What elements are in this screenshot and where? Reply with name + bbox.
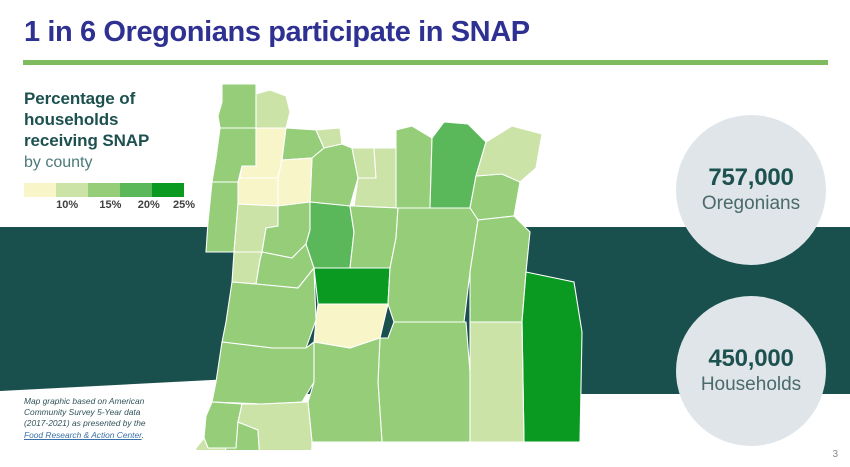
footnote-line-3: (2017-2021) as presented by the: [24, 418, 146, 428]
footnote-line-2: Community Survey 5-Year data: [24, 407, 140, 417]
legend-tick-2: 20%: [138, 199, 160, 211]
county-columbia: [256, 90, 290, 128]
county-douglas: [212, 342, 314, 404]
legend-swatch-2: [88, 183, 120, 197]
county-grant: [388, 208, 478, 322]
footnote-period: .: [142, 430, 144, 440]
legend-swatch-1: [56, 183, 88, 197]
legend-color-scale: [24, 183, 184, 197]
county-wasco: [310, 144, 358, 206]
county-jefferson: [306, 202, 354, 268]
county-wheeler: [350, 206, 398, 268]
legend-tick-0: 10%: [56, 199, 78, 211]
stat-label-oregonians: Oregonians: [702, 192, 800, 216]
oregon-county-map: [182, 82, 662, 450]
legend-swatch-4: [152, 183, 184, 197]
county-union: [470, 174, 520, 220]
legend-tick-1: 15%: [99, 199, 121, 211]
county-lincoln: [206, 182, 238, 252]
legend-tick-labels: 10%15%20%25%: [24, 199, 184, 215]
legend-title-line-1: Percentage of: [24, 88, 204, 109]
legend-swatch-3: [120, 183, 152, 197]
county-yamhill: [238, 178, 282, 206]
legend-tick-3: 25%: [173, 199, 195, 211]
legend-title-line-2: households: [24, 109, 204, 130]
county-wallowa: [476, 126, 542, 182]
county-baker: [470, 216, 530, 322]
page-title: 1 in 6 Oregonians participate in SNAP: [24, 16, 724, 49]
stat-label-households: Households: [701, 373, 801, 397]
county-crook: [314, 268, 390, 304]
footnote-line-1: Map graphic based on American: [24, 396, 144, 406]
legend-swatch-0: [24, 183, 56, 197]
county-harney: [378, 322, 470, 442]
source-footnote: Map graphic based on American Community …: [24, 396, 204, 441]
stat-number-households: 450,000: [708, 345, 793, 373]
legend-title-line-3: receiving SNAP: [24, 130, 204, 151]
legend-subtitle: by county: [24, 152, 204, 174]
county-lake: [470, 322, 524, 442]
county-klamath: [308, 338, 382, 442]
map-counties: [192, 84, 582, 450]
title-divider: [23, 60, 828, 65]
county-malheur: [522, 272, 582, 442]
stat-number-oregonians: 757,000: [708, 164, 793, 192]
stat-circle-households: 450,000 Households: [676, 296, 826, 446]
map-legend: Percentage of households receiving SNAP …: [24, 88, 204, 215]
stat-circle-oregonians: 757,000 Oregonians: [676, 115, 826, 265]
county-morrow: [396, 126, 432, 208]
county-clatsop: [218, 84, 256, 128]
slide-canvas: 1 in 6 Oregonians participate in SNAP: [0, 0, 850, 467]
footnote-source-link[interactable]: Food Research & Action Center: [24, 430, 142, 440]
page-number: 3: [832, 449, 838, 460]
